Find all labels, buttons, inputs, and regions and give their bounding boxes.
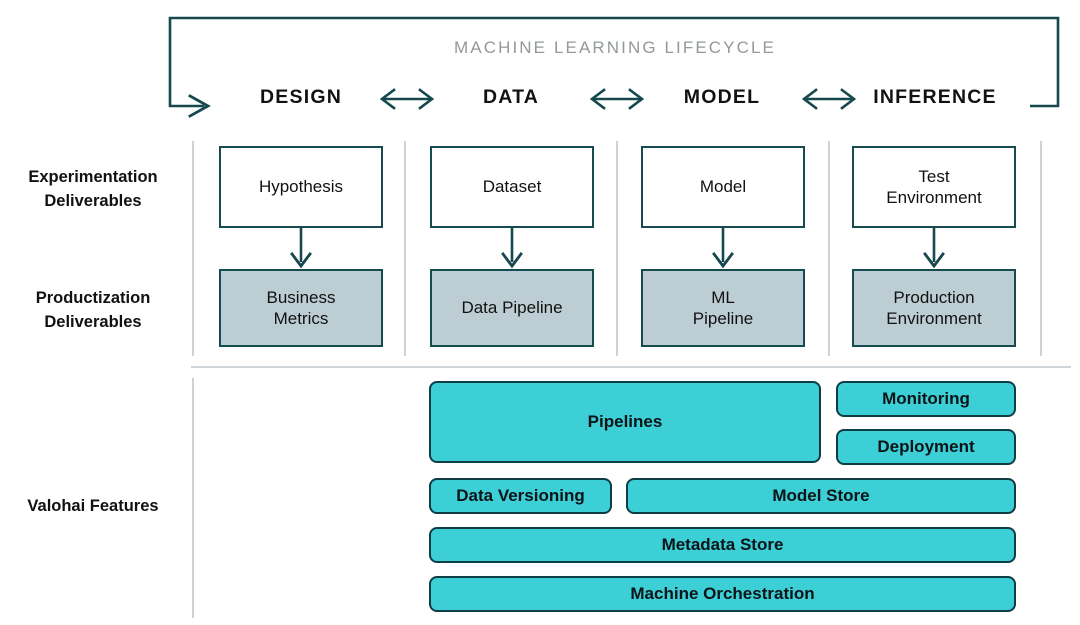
divider-vertical-left-bottom (192, 378, 194, 618)
experimentation-box-test-environment-line2: Environment (886, 187, 981, 208)
stage-label-design[interactable]: DESIGN (236, 86, 366, 109)
diagram-canvas: MACHINE LEARNING LIFECYCLE DESIGN DATA M… (0, 0, 1080, 625)
divider-vertical-col2 (616, 141, 618, 356)
feature-pill-monitoring[interactable]: Monitoring (836, 381, 1016, 417)
productization-box-production-environment[interactable]: Production Environment (852, 269, 1016, 347)
productization-box-ml-pipeline-line2: Pipeline (693, 308, 754, 329)
divider-vertical-col3 (828, 141, 830, 356)
arrow-test-env-to-production-env (921, 228, 947, 270)
row-label-experimentation-line2: Deliverables (0, 190, 186, 214)
row-label-productization-line2: Deliverables (0, 311, 186, 335)
feature-pill-data-versioning[interactable]: Data Versioning (429, 478, 612, 514)
feature-pill-metadata-store[interactable]: Metadata Store (429, 527, 1016, 563)
row-label-valohai-features: Valohai Features (0, 495, 186, 519)
row-label-productization-line1: Productization (0, 287, 186, 311)
connector-arrow-model-inference (800, 86, 858, 112)
experimentation-box-test-environment-line1: Test (886, 166, 981, 187)
row-label-experimentation: Experimentation Deliverables (0, 166, 186, 214)
productization-box-business-metrics[interactable]: Business Metrics (219, 269, 383, 347)
lifecycle-title: MACHINE LEARNING LIFECYCLE (220, 38, 1010, 58)
feature-pill-machine-orchestration[interactable]: Machine Orchestration (429, 576, 1016, 612)
stage-label-inference[interactable]: INFERENCE (868, 86, 1002, 109)
experimentation-box-model[interactable]: Model (641, 146, 805, 228)
divider-horizontal-features (191, 366, 1071, 368)
productization-box-data-pipeline[interactable]: Data Pipeline (430, 269, 594, 347)
feature-pill-pipelines[interactable]: Pipelines (429, 381, 821, 463)
experimentation-box-dataset[interactable]: Dataset (430, 146, 594, 228)
arrow-model-to-ml-pipeline (710, 228, 736, 270)
divider-vertical-col4 (1040, 141, 1042, 356)
productization-box-production-environment-line2: Environment (886, 308, 981, 329)
experimentation-box-hypothesis[interactable]: Hypothesis (219, 146, 383, 228)
experimentation-box-dataset-line1: Dataset (483, 176, 542, 197)
productization-box-ml-pipeline[interactable]: ML Pipeline (641, 269, 805, 347)
productization-box-business-metrics-line1: Business (267, 287, 336, 308)
stage-label-data[interactable]: DATA (452, 86, 570, 109)
experimentation-box-hypothesis-line1: Hypothesis (259, 176, 343, 197)
divider-vertical-col1 (404, 141, 406, 356)
productization-box-ml-pipeline-line1: ML (693, 287, 754, 308)
arrow-dataset-to-data-pipeline (499, 228, 525, 270)
productization-box-data-pipeline-line1: Data Pipeline (461, 297, 562, 318)
productization-box-production-environment-line1: Production (886, 287, 981, 308)
connector-arrow-design-data (378, 86, 436, 112)
row-label-valohai-features-line1: Valohai Features (0, 495, 186, 519)
feature-pill-model-store[interactable]: Model Store (626, 478, 1016, 514)
experimentation-box-model-line1: Model (700, 176, 746, 197)
feature-pill-deployment[interactable]: Deployment (836, 429, 1016, 465)
divider-vertical-left-top (192, 141, 194, 356)
arrow-hypothesis-to-business-metrics (288, 228, 314, 270)
row-label-productization: Productization Deliverables (0, 287, 186, 335)
stage-label-model[interactable]: MODEL (662, 86, 782, 109)
productization-box-business-metrics-line2: Metrics (267, 308, 336, 329)
experimentation-box-test-environment[interactable]: Test Environment (852, 146, 1016, 228)
connector-arrow-data-model (588, 86, 646, 112)
row-label-experimentation-line1: Experimentation (0, 166, 186, 190)
